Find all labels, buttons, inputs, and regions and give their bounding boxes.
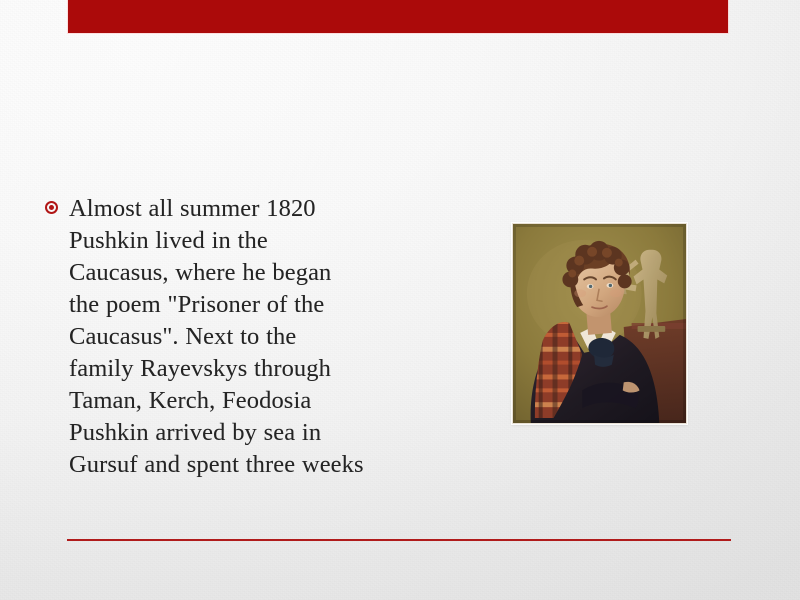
pushkin-portrait-image [512, 223, 687, 424]
slide-canvas: Almost all summer 1820 Pushkin lived in … [0, 0, 800, 600]
content-text-block: Almost all summer 1820 Pushkin lived in … [45, 193, 365, 481]
bullet-item-text: Almost all summer 1820 Pushkin lived in … [69, 193, 365, 481]
bullet-list-item: Almost all summer 1820 Pushkin lived in … [45, 193, 365, 481]
red-divider-line [67, 539, 731, 541]
portrait-illustration [513, 224, 686, 423]
slide-title-bar [68, 0, 728, 33]
target-bullet-icon [45, 201, 58, 214]
